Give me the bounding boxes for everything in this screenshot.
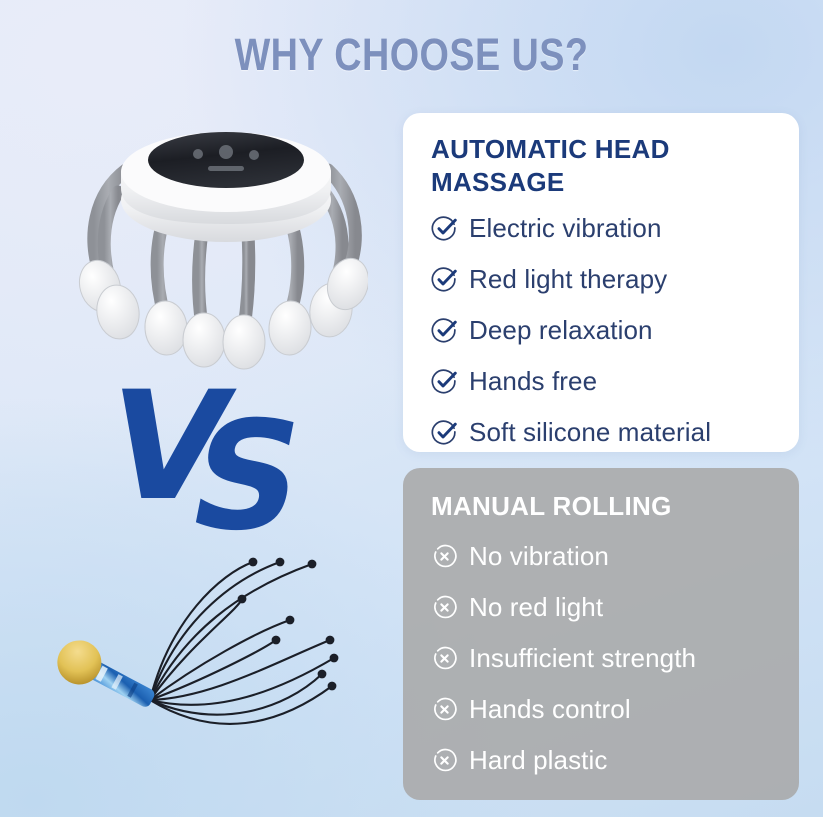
x-circle-icon: [431, 747, 458, 774]
pros-card-heading: AUTOMATIC HEAD MASSAGE: [431, 133, 799, 199]
list-item: Hands control: [431, 684, 799, 735]
list-item-label: Deep relaxation: [469, 315, 653, 346]
pros-feature-list: Electric vibration Red light therapy Dee…: [431, 203, 799, 458]
cons-feature-list: No vibration No red light Insufficient s…: [431, 531, 799, 786]
list-item: No red light: [431, 582, 799, 633]
list-item: Hard plastic: [431, 735, 799, 786]
check-circle-icon: [431, 317, 458, 344]
list-item-label: No vibration: [469, 541, 609, 572]
list-item: Electric vibration: [431, 203, 799, 254]
list-item-label: Soft silicone material: [469, 417, 711, 448]
x-circle-icon: [431, 594, 458, 621]
list-item: Insufficient strength: [431, 633, 799, 684]
x-circle-icon: [431, 696, 458, 723]
x-circle-icon: [431, 645, 458, 672]
check-circle-icon: [431, 419, 458, 446]
list-item-label: Electric vibration: [469, 213, 662, 244]
check-circle-icon: [431, 215, 458, 242]
manual-massager-image: [40, 540, 380, 795]
list-item-label: Red light therapy: [469, 264, 667, 295]
x-circle-icon: [431, 543, 458, 570]
list-item-label: Hard plastic: [469, 745, 607, 776]
list-item: Soft silicone material: [431, 407, 799, 458]
list-item-label: Hands free: [469, 366, 597, 397]
page-title: WHY CHOOSE US?: [66, 30, 757, 80]
list-item-label: No red light: [469, 592, 603, 623]
list-item: Red light therapy: [431, 254, 799, 305]
check-circle-icon: [431, 368, 458, 395]
list-item-label: Hands control: [469, 694, 631, 725]
cons-card-heading: MANUAL ROLLING: [431, 490, 799, 523]
list-item: Hands free: [431, 356, 799, 407]
pros-card: AUTOMATIC HEAD MASSAGE Electric vibratio…: [403, 113, 799, 452]
poster-canvas: WHY CHOOSE US?: [0, 0, 823, 817]
list-item-label: Insufficient strength: [469, 643, 696, 674]
vs-mark: V S: [110, 372, 325, 537]
cons-card: MANUAL ROLLING No vibration No red light: [403, 468, 799, 800]
list-item: No vibration: [431, 531, 799, 582]
electric-massager-image: [78, 108, 368, 383]
list-item: Deep relaxation: [431, 305, 799, 356]
check-circle-icon: [431, 266, 458, 293]
